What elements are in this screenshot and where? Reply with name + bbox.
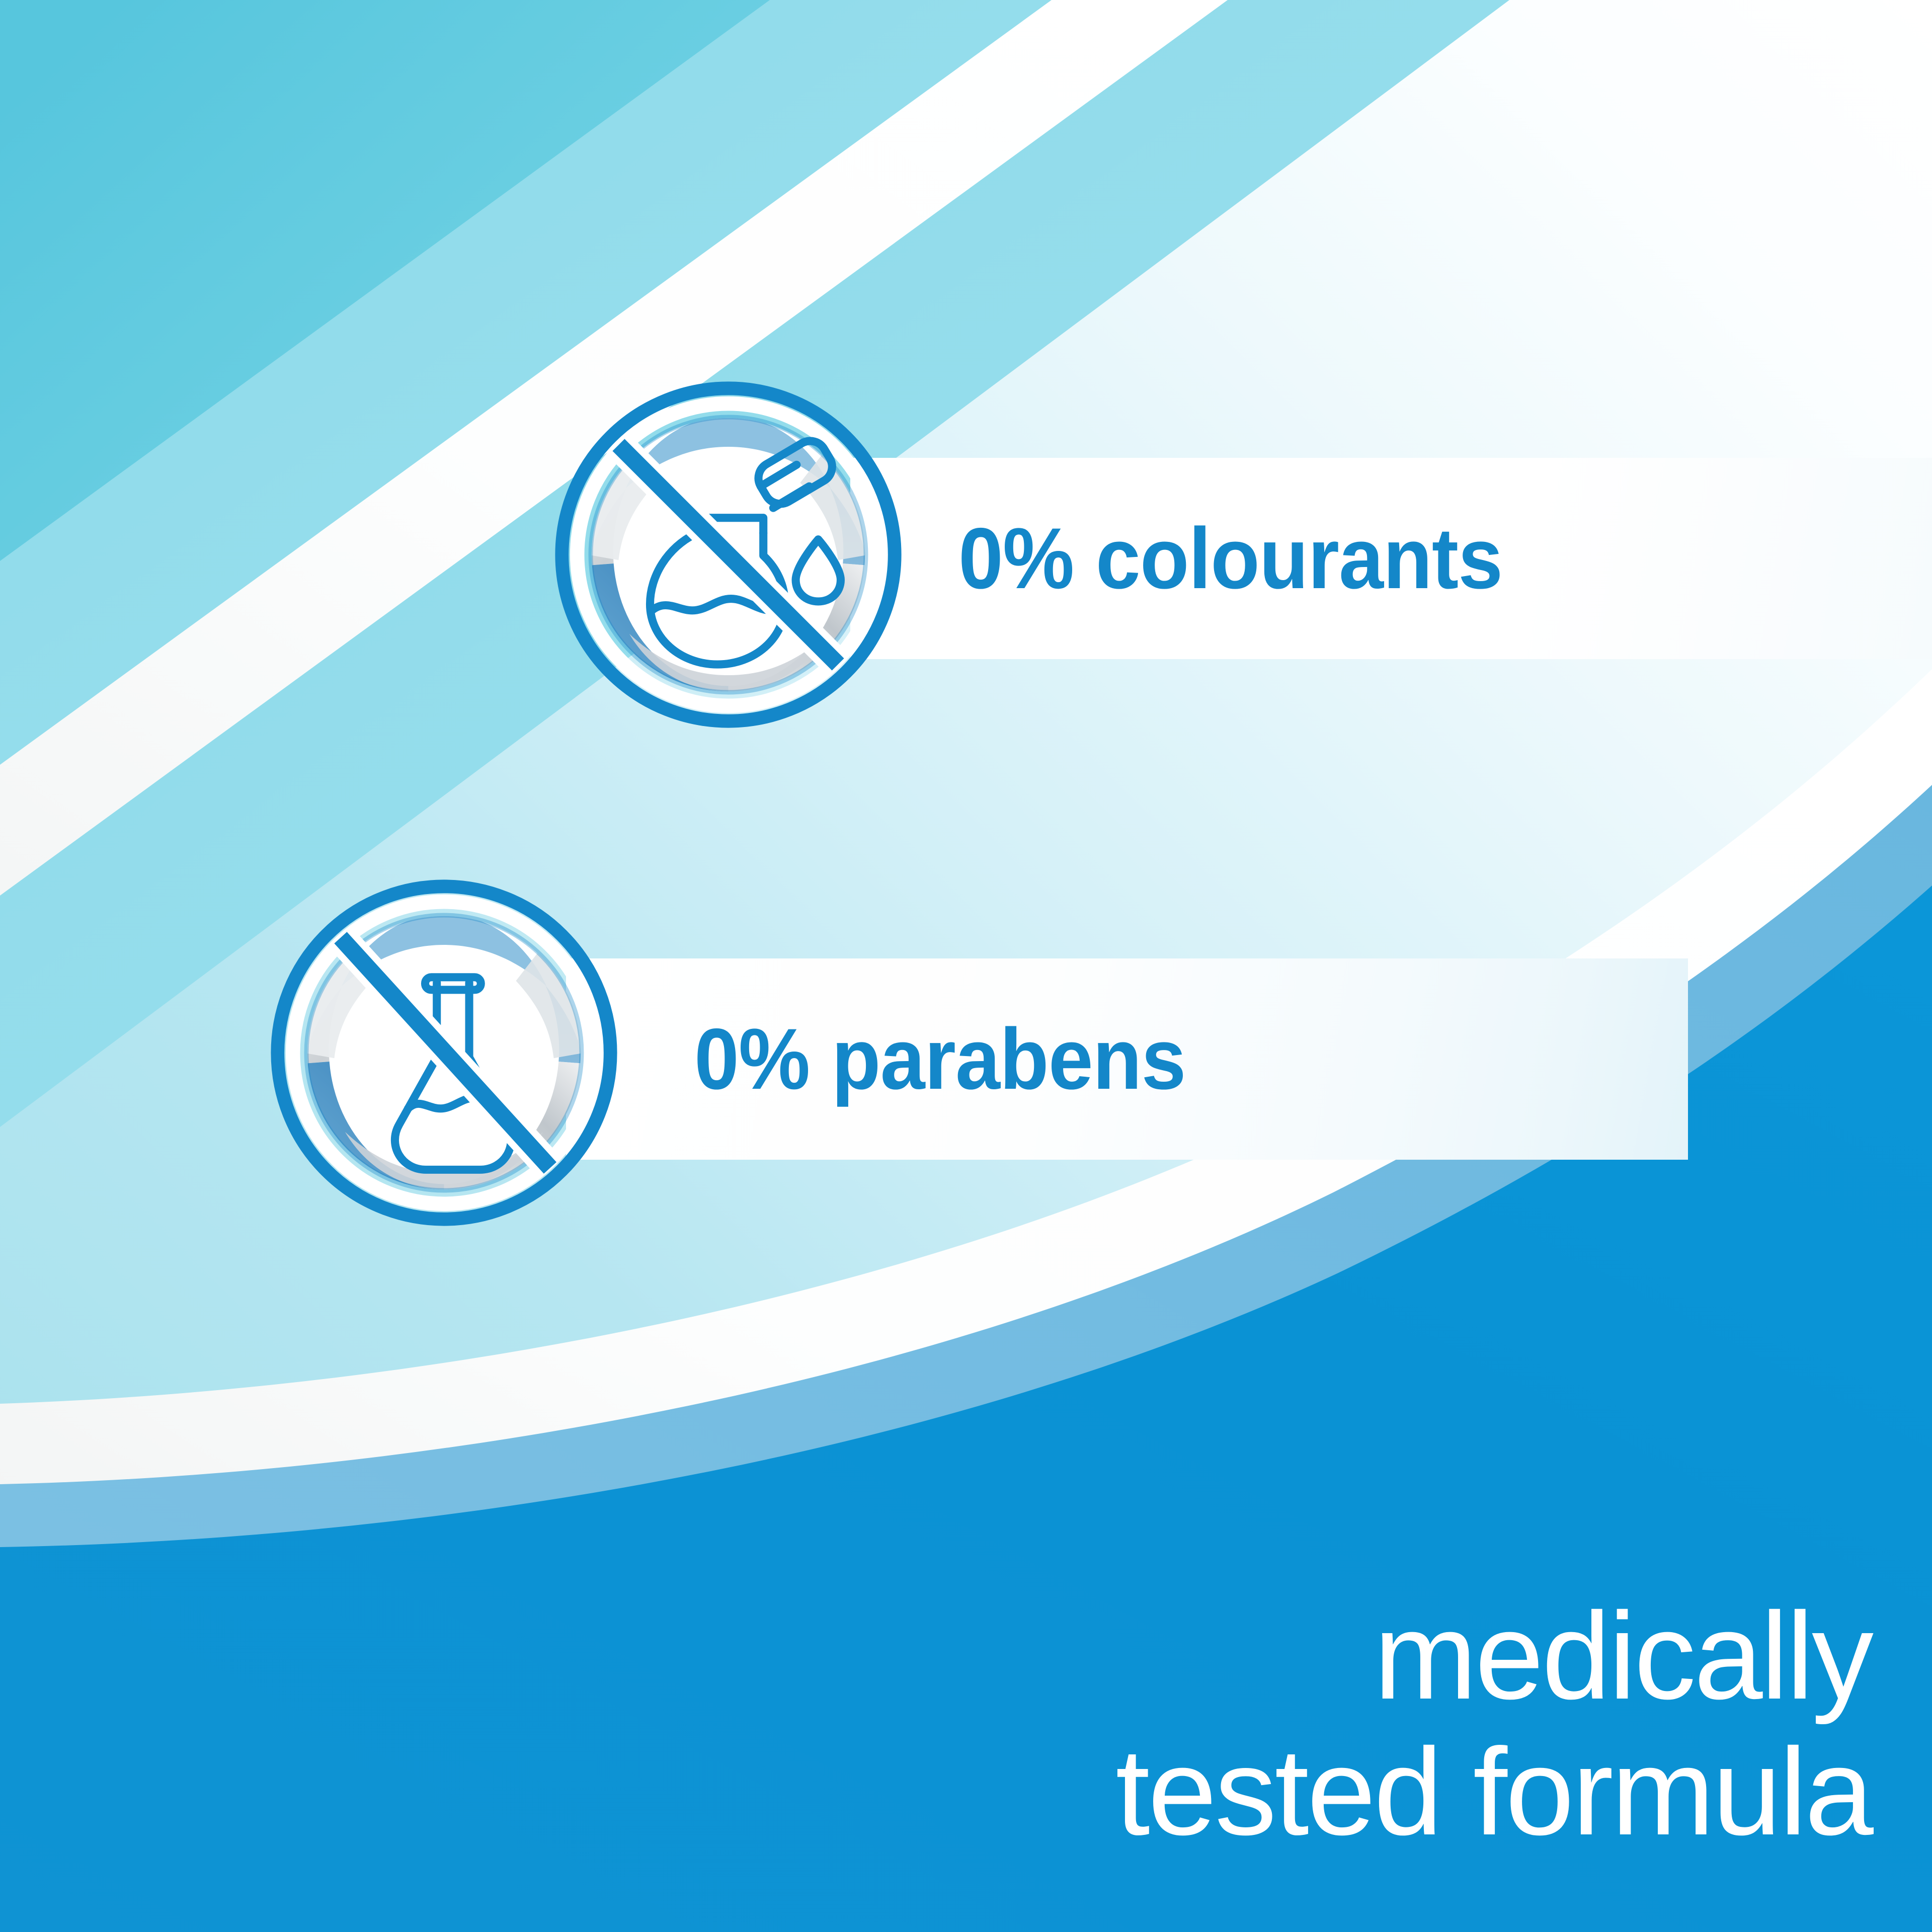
claim-label-colourants: 0% colourants xyxy=(958,515,1502,602)
claim-label-parabens: 0% parabens xyxy=(694,1016,1186,1102)
claim-panel-parabens: 0% parabens xyxy=(566,958,1688,1160)
no-erlenmeyer-flask-icon xyxy=(264,873,624,1233)
headline-line-1: medically xyxy=(1115,1594,1872,1718)
promo-banner: 0% colourants 0% parabens xyxy=(0,0,1932,1932)
no-test-tube-flask-drop-icon xyxy=(548,375,908,735)
headline: medically tested formula xyxy=(1115,1594,1872,1854)
headline-line-2: tested formula xyxy=(1115,1730,1872,1854)
claim-panel-colourants: 0% colourants xyxy=(850,458,1932,659)
